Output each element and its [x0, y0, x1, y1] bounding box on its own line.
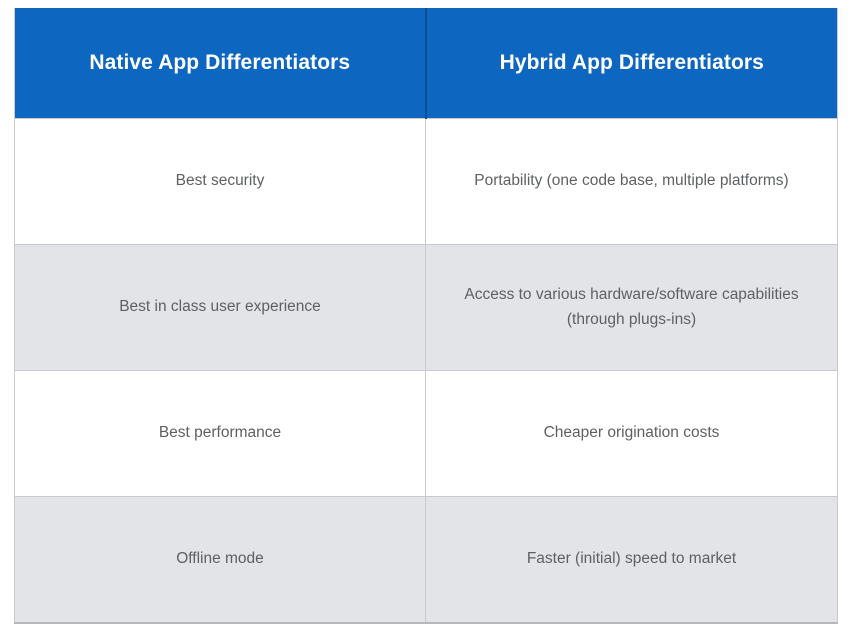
column-header-hybrid: Hybrid App Differentiators: [426, 8, 838, 119]
comparison-table-container: Native App Differentiators Hybrid App Di…: [14, 8, 837, 624]
table-row: Best performance Cheaper origination cos…: [15, 371, 838, 497]
cell-hybrid-1: Portability (one code base, multiple pla…: [426, 119, 838, 245]
cell-text: Portability (one code base, multiple pla…: [448, 169, 815, 193]
cell-hybrid-3: Cheaper origination costs: [426, 371, 838, 497]
cell-text: Cheaper origination costs: [448, 421, 815, 445]
cell-text: Best in class user experience: [37, 295, 403, 319]
header-row: Native App Differentiators Hybrid App Di…: [15, 8, 838, 119]
table-row: Best security Portability (one code base…: [15, 119, 838, 245]
cell-native-4: Offline mode: [15, 497, 426, 624]
table-row: Offline mode Faster (initial) speed to m…: [15, 497, 838, 624]
cell-hybrid-2: Access to various hardware/software capa…: [426, 245, 838, 371]
cell-text: Best performance: [37, 421, 403, 445]
cell-native-3: Best performance: [15, 371, 426, 497]
cell-hybrid-4: Faster (initial) speed to market: [426, 497, 838, 624]
cell-text: Access to various hardware/software capa…: [448, 283, 815, 331]
native-vs-hybrid-comparison-table: Native App Differentiators Hybrid App Di…: [14, 8, 838, 624]
column-header-native: Native App Differentiators: [15, 8, 426, 119]
cell-native-2: Best in class user experience: [15, 245, 426, 371]
cell-text: Faster (initial) speed to market: [448, 547, 815, 571]
cell-native-1: Best security: [15, 119, 426, 245]
cell-text: Best security: [37, 169, 403, 193]
table-header: Native App Differentiators Hybrid App Di…: [15, 8, 838, 119]
cell-text: Offline mode: [37, 547, 403, 571]
table-row: Best in class user experience Access to …: [15, 245, 838, 371]
table-body: Best security Portability (one code base…: [15, 119, 838, 624]
